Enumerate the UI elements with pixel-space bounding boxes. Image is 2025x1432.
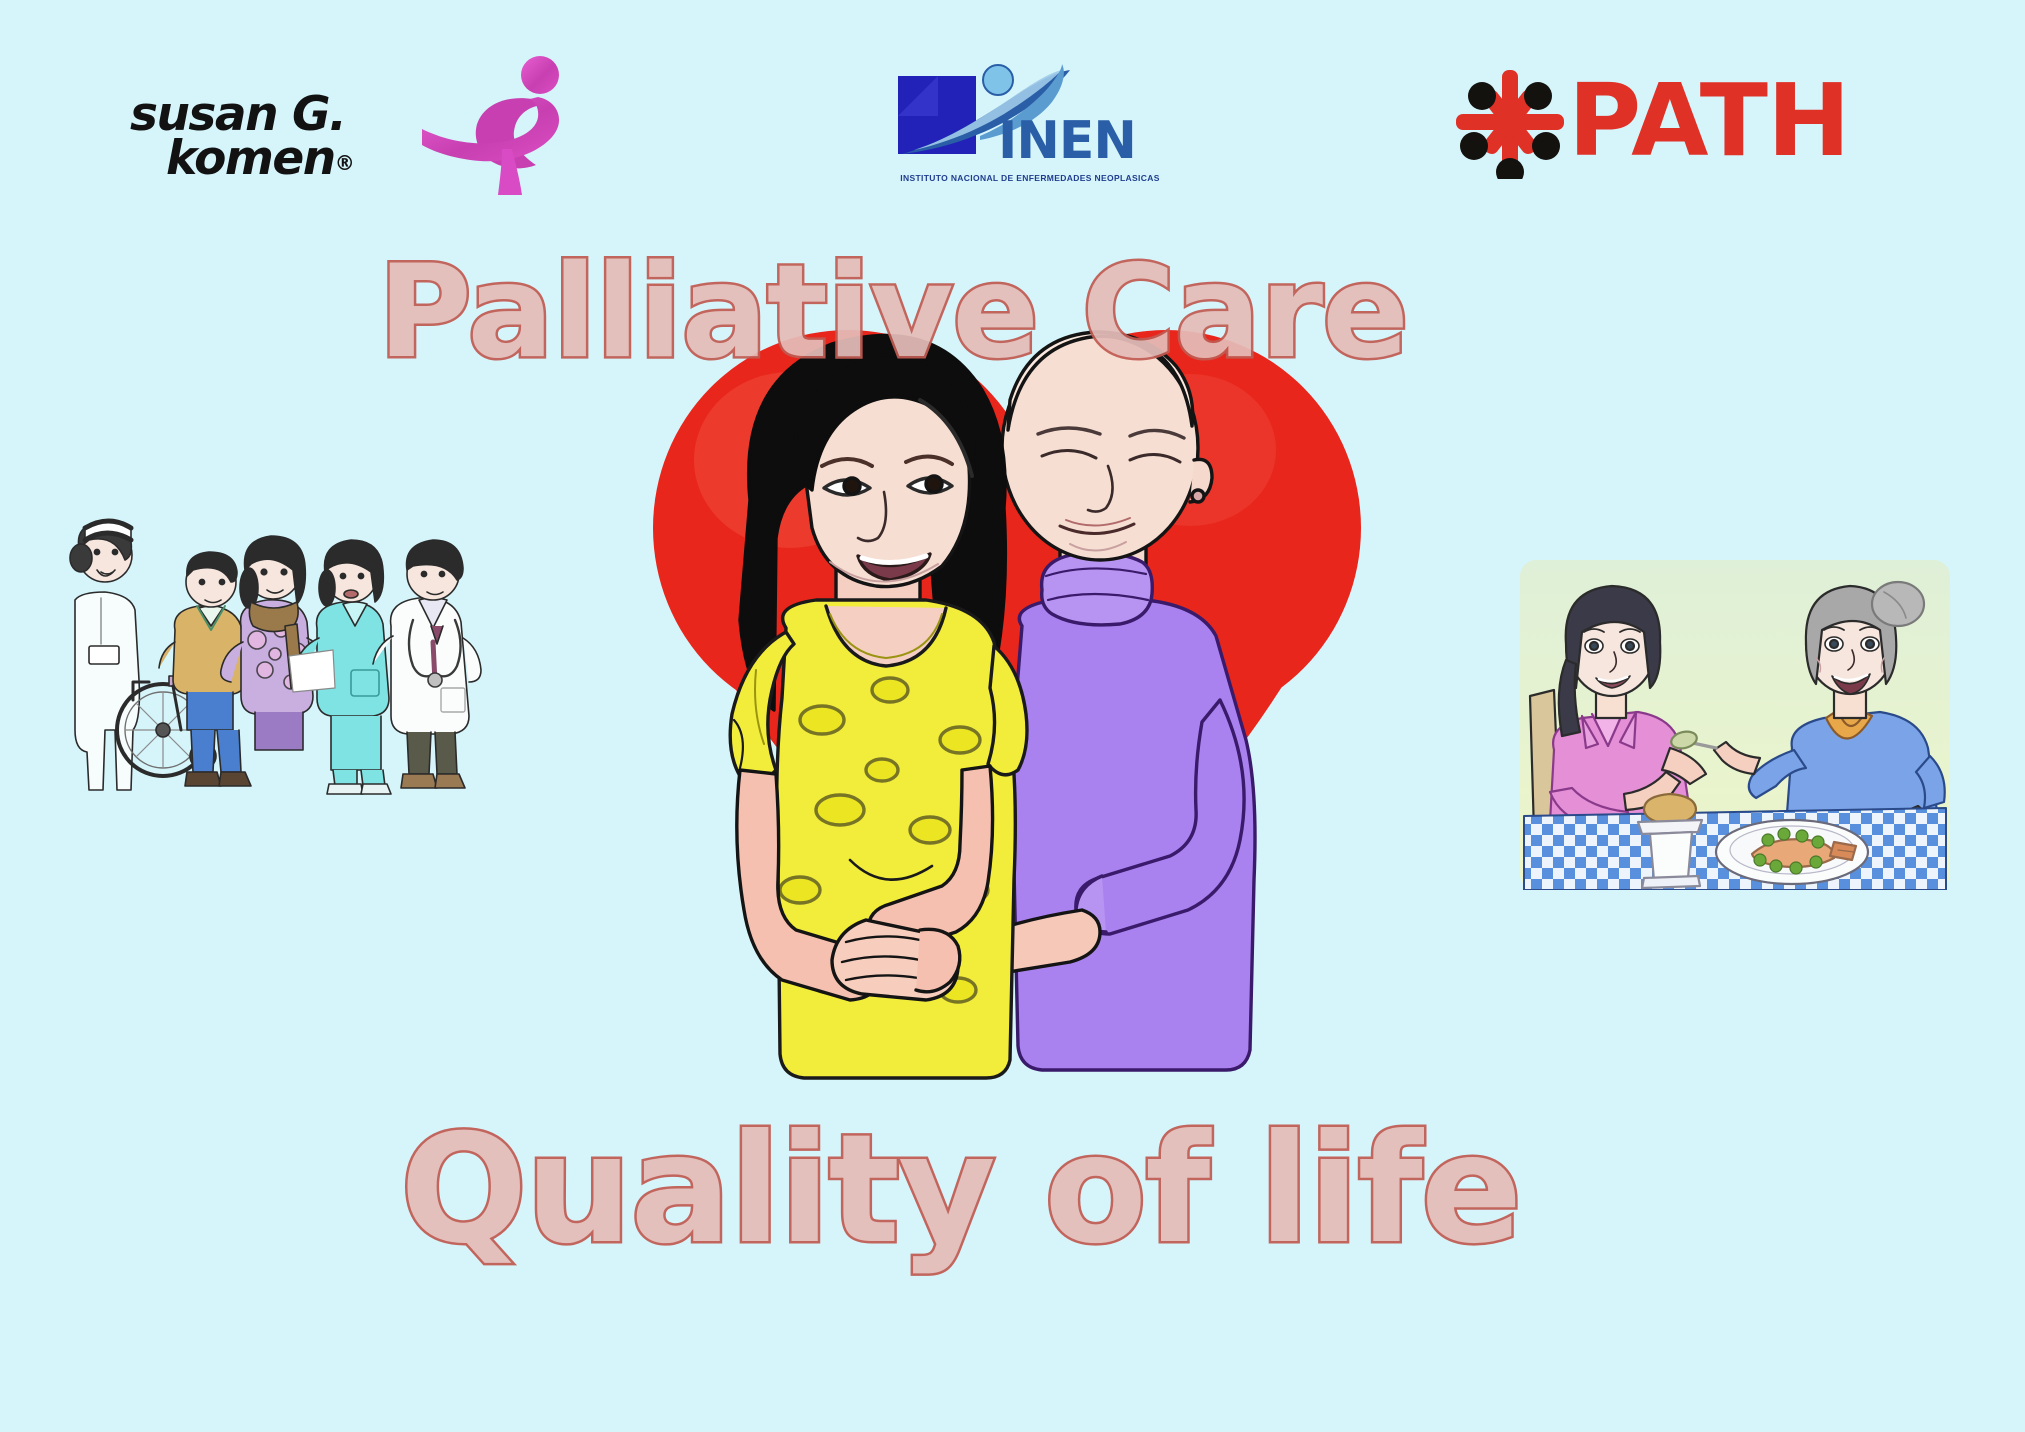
svg-text:INEN: INEN	[998, 111, 1136, 171]
komen-wordmark: susan G. komen®	[130, 93, 470, 180]
nurse-with-cap	[70, 521, 139, 790]
clasped-hands	[832, 920, 960, 1000]
caregiver-feeding-illustration	[1520, 560, 1950, 890]
inen-mark-icon: INEN	[880, 58, 1180, 173]
susan-g-komen-logo: susan G. komen®	[130, 45, 610, 195]
path-starburst-icon	[1450, 64, 1570, 179]
food-plate	[1716, 820, 1868, 884]
care-team-illustration	[45, 430, 495, 810]
inen-subtitle: INSTITUTO NACIONAL DE ENFERMEDADES NEOPL…	[880, 173, 1180, 183]
inen-logo: INEN INSTITUTO NACIONAL DE ENFERMEDADES …	[880, 58, 1180, 203]
poster-slide: susan G. komen®	[0, 0, 2025, 1432]
page-title-bottom: Quality of life	[400, 1103, 1520, 1277]
doctor-white-coat	[373, 540, 481, 788]
komen-registered-mark: ®	[335, 151, 354, 175]
logo-row: susan G. komen®	[0, 0, 2025, 210]
two-women-embrace-illustration	[590, 270, 1430, 1120]
path-logo: PATH	[1450, 62, 1910, 182]
komen-line-2: komen®	[130, 137, 470, 181]
pink-ribbon-icon	[420, 45, 590, 195]
path-wordmark: PATH	[1568, 68, 1850, 173]
